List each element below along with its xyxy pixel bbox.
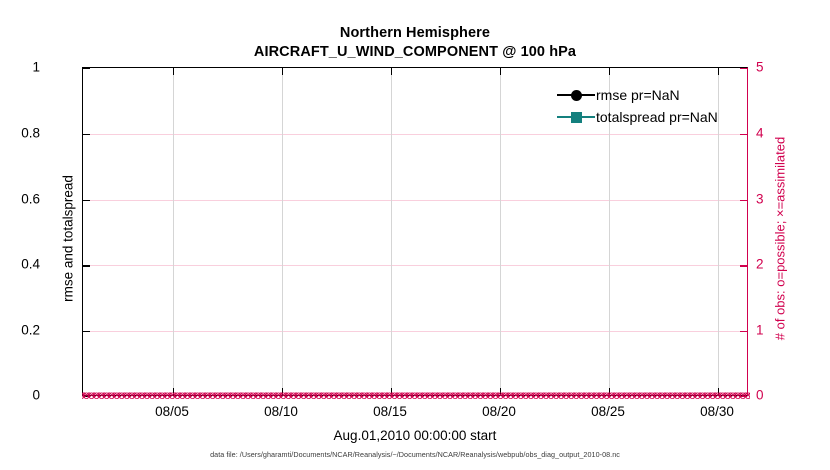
legend-marker-circle-icon: [557, 86, 595, 104]
tick-right: [740, 68, 747, 69]
tick-top: [718, 68, 719, 75]
chart-title: Northern Hemisphere AIRCRAFT_U_WIND_COMP…: [0, 24, 830, 62]
tick-bottom: [609, 388, 610, 395]
y-axis-title-left: rmse and totalspread: [61, 89, 76, 389]
tick-right: [740, 265, 747, 266]
ytick-label-left: 1: [32, 60, 40, 75]
xtick-label: 08/05: [155, 404, 189, 419]
tick-bottom: [173, 388, 174, 395]
legend-label-totalspread: totalspread pr=NaN: [595, 109, 718, 125]
tick-bottom: [718, 388, 719, 395]
plot-area: rmse pr=NaN totalspread pr=NaN: [82, 67, 748, 396]
xtick-label: 08/25: [591, 404, 625, 419]
data-file-note: data file: /Users/gharamti/Documents/NCA…: [0, 450, 830, 459]
legend-label-rmse: rmse pr=NaN: [595, 87, 680, 103]
tick-left: [83, 396, 90, 397]
gridline-vertical: [282, 68, 283, 395]
tick-bottom: [282, 388, 283, 395]
gridline-horizontal: [83, 331, 747, 332]
gridline-horizontal: [83, 265, 747, 266]
legend-item-totalspread: totalspread pr=NaN: [557, 106, 757, 128]
tick-left: [83, 134, 90, 135]
tick-left: [83, 68, 90, 69]
ytick-label-left: 0.4: [21, 257, 40, 272]
gridline-vertical: [500, 68, 501, 395]
ytick-label-right: 1: [756, 323, 764, 338]
y-axis-title-right: # of obs: o=possible; ×=assimilated: [773, 89, 788, 389]
gridline-vertical: [391, 68, 392, 395]
ytick-label-right: 3: [756, 191, 764, 206]
figure-canvas: Northern Hemisphere AIRCRAFT_U_WIND_COMP…: [0, 0, 830, 470]
xtick-label: 08/20: [482, 404, 516, 419]
tick-top: [391, 68, 392, 75]
ytick-label-left: 0.2: [21, 323, 40, 338]
tick-left: [83, 200, 90, 201]
ytick-label-left: 0.8: [21, 125, 40, 140]
ytick-label-right: 4: [756, 125, 764, 140]
tick-top: [282, 68, 283, 75]
gridline-horizontal: [83, 200, 747, 201]
tick-top: [609, 68, 610, 75]
ytick-label-left: 0.6: [21, 191, 40, 206]
xtick-label: 08/30: [700, 404, 734, 419]
tick-top: [500, 68, 501, 75]
tick-bottom: [391, 388, 392, 395]
ytick-label-right: 2: [756, 257, 764, 272]
chart-legend: rmse pr=NaN totalspread pr=NaN: [557, 84, 757, 128]
gridline-vertical: [173, 68, 174, 395]
tick-right: [740, 134, 747, 135]
tick-left: [83, 265, 90, 266]
ytick-label-right: 5: [756, 60, 764, 75]
tick-right: [740, 396, 747, 397]
xtick-label: 08/15: [373, 404, 407, 419]
chart-title-line-2: AIRCRAFT_U_WIND_COMPONENT @ 100 hPa: [0, 43, 830, 62]
tick-right: [740, 331, 747, 332]
legend-marker-square-icon: [557, 108, 595, 126]
gridline-horizontal: [83, 134, 747, 135]
ytick-label-right: 0: [756, 388, 764, 403]
tick-left: [83, 331, 90, 332]
tick-top: [173, 68, 174, 75]
tick-bottom: [500, 388, 501, 395]
chart-title-line-1: Northern Hemisphere: [0, 24, 830, 43]
ytick-label-left: 0: [32, 388, 40, 403]
x-axis-title: Aug.01,2010 00:00:00 start: [0, 428, 830, 443]
tick-right: [740, 200, 747, 201]
legend-item-rmse: rmse pr=NaN: [557, 84, 757, 106]
xtick-label: 08/10: [264, 404, 298, 419]
